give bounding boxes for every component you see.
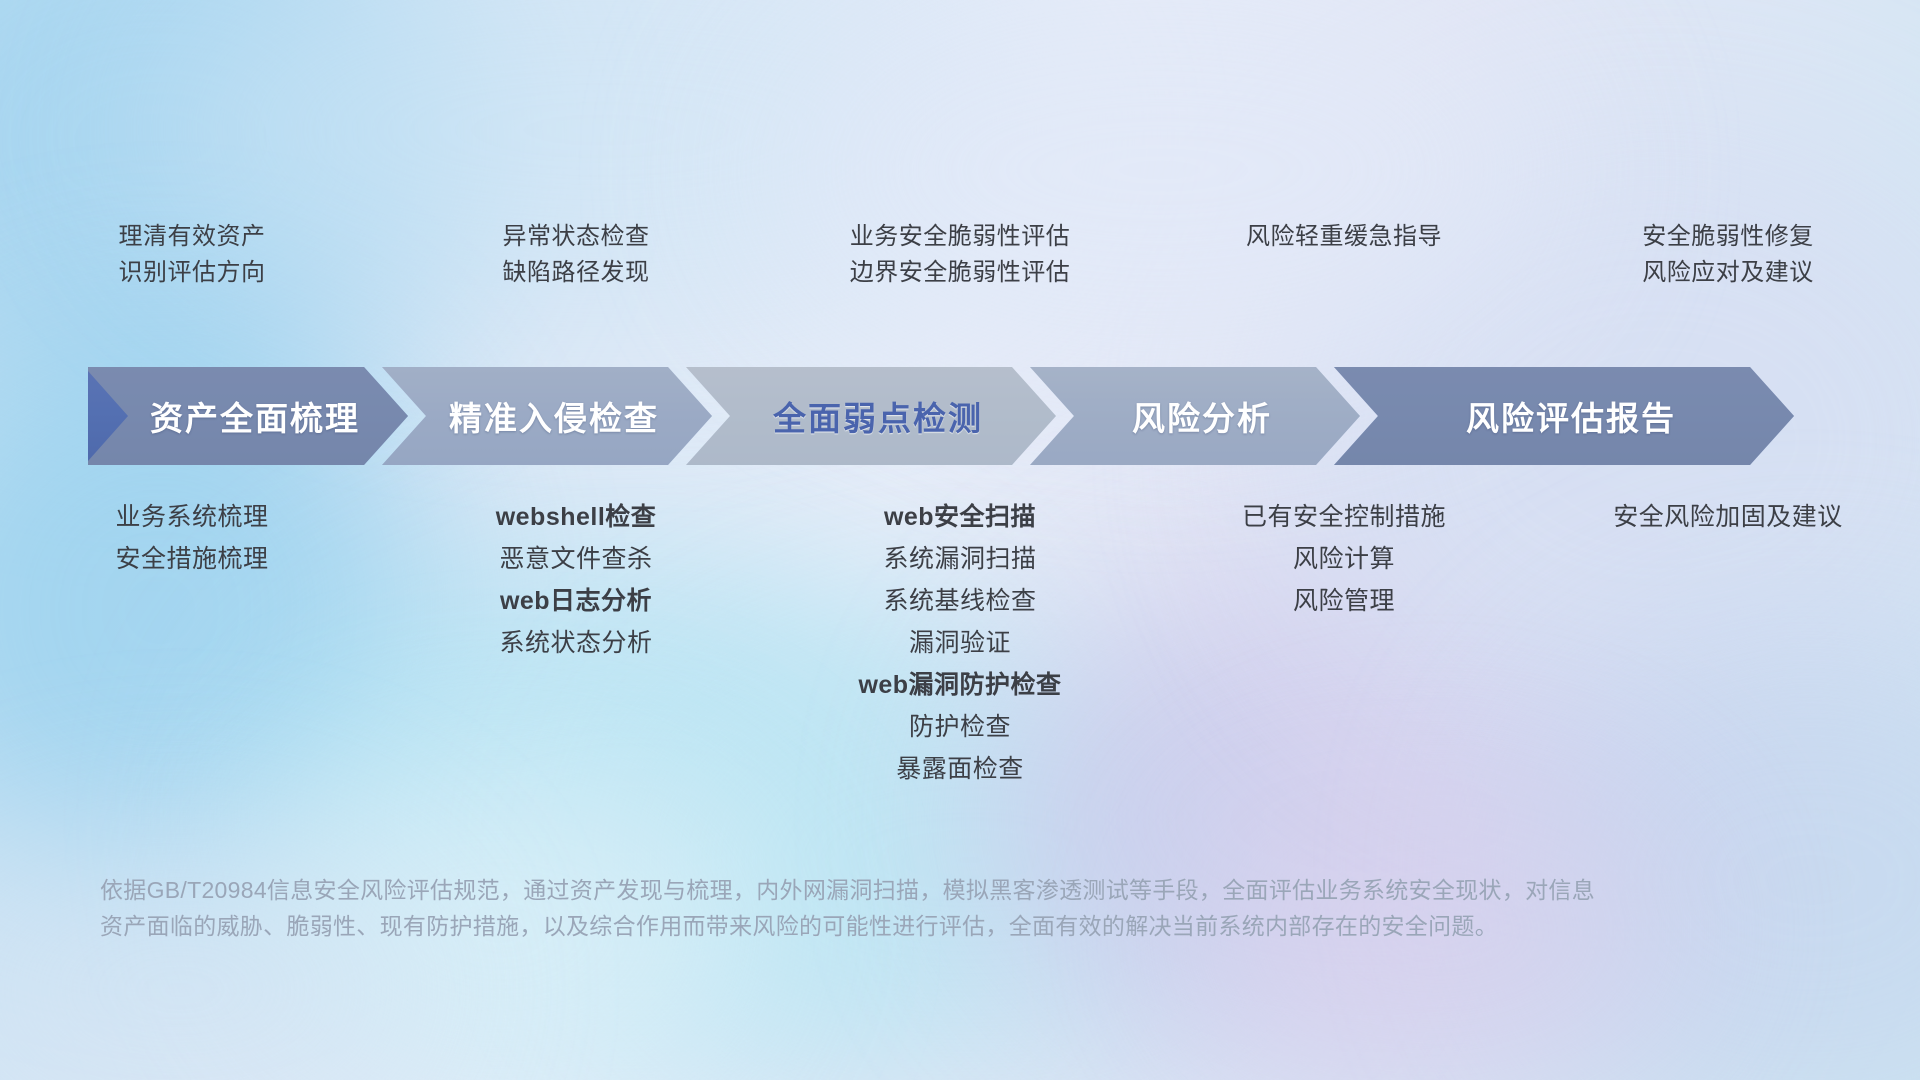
chevron-stage-asset-review[interactable]: 资产全面梳理: [88, 367, 408, 465]
top-notes-risk-report: 安全脆弱性修复 风险应对及建议: [1536, 225, 1920, 335]
top-notes-intrusion-check: 异常状态检查 缺陷路径发现: [384, 225, 768, 335]
slide-canvas: 理清有效资产 识别评估方向 异常状态检查 缺陷路径发现 业务安全脆弱性评估 边界…: [0, 0, 1920, 1080]
chevron-label: 精准入侵检查: [435, 392, 659, 440]
detail-column-risk-report: 安全风险加固及建议: [1536, 505, 1920, 530]
detail-column-asset-review: 业务系统梳理 安全措施梳理: [0, 505, 384, 572]
top-notes-asset-review: 理清有效资产 识别评估方向: [0, 225, 384, 335]
top-note: 异常状态检查: [503, 225, 650, 249]
detail-item: webshell检查: [496, 505, 657, 530]
chevron-label: 风险分析: [1118, 392, 1272, 440]
chevron-stage-risk-analysis[interactable]: 风险分析: [1030, 367, 1360, 465]
detail-item: 安全措施梳理: [115, 547, 268, 572]
detail-item: 漏洞验证: [909, 631, 1011, 656]
chevron-stage-weakness-detect[interactable]: 全面弱点检测: [686, 367, 1056, 465]
detail-item: 系统漏洞扫描: [883, 547, 1036, 572]
top-note: 安全脆弱性修复: [1642, 225, 1814, 249]
detail-item: web日志分析: [500, 589, 652, 614]
footer-line: 资产面临的威胁、脆弱性、现有防护措施，以及综合作用而带来风险的可能性进行评估，全…: [100, 908, 1740, 944]
detail-item: 风险计算: [1293, 547, 1395, 572]
top-notes-weakness-detect: 业务安全脆弱性评估 边界安全脆弱性评估: [768, 225, 1152, 335]
detail-item: 安全风险加固及建议: [1613, 505, 1843, 530]
top-notes-row: 理清有效资产 识别评估方向 异常状态检查 缺陷路径发现 业务安全脆弱性评估 边界…: [0, 225, 1920, 335]
footer-line: 依据GB/T20984信息安全风险评估规范，通过资产发现与梳理，内外网漏洞扫描，…: [100, 872, 1740, 908]
chevron-label: 全面弱点检测: [759, 392, 983, 440]
detail-item: 暴露面检查: [896, 757, 1024, 782]
chevron-label: 资产全面梳理: [136, 392, 360, 440]
detail-item: web安全扫描: [884, 505, 1036, 530]
detail-item: 恶意文件查杀: [499, 547, 652, 572]
top-note: 理清有效资产: [119, 225, 266, 249]
chevron-stage-risk-report[interactable]: 风险评估报告: [1334, 367, 1794, 465]
detail-item: web漏洞防护检查: [858, 673, 1061, 698]
top-note: 边界安全脆弱性评估: [850, 261, 1071, 285]
detail-item: 系统状态分析: [499, 631, 652, 656]
process-chevron-band: 资产全面梳理 精准入侵检查 全面弱点检测 风险分析 风险评估报告: [88, 367, 1848, 465]
detail-item: 系统基线检查: [883, 589, 1036, 614]
top-note: 风险轻重缓急指导: [1246, 225, 1442, 249]
top-notes-risk-analysis: 风险轻重缓急指导: [1152, 225, 1536, 335]
top-note: 风险应对及建议: [1642, 261, 1814, 285]
top-note: 业务安全脆弱性评估: [850, 225, 1071, 249]
detail-column-weakness-detect: web安全扫描 系统漏洞扫描 系统基线检查 漏洞验证 web漏洞防护检查 防护检…: [768, 505, 1152, 782]
stage-detail-columns: 业务系统梳理 安全措施梳理 webshell检查 恶意文件查杀 web日志分析 …: [0, 505, 1920, 782]
detail-item: 防护检查: [909, 715, 1011, 740]
footer-description: 依据GB/T20984信息安全风险评估规范，通过资产发现与梳理，内外网漏洞扫描，…: [100, 872, 1740, 944]
detail-column-intrusion-check: webshell检查 恶意文件查杀 web日志分析 系统状态分析: [384, 505, 768, 656]
chevron-label: 风险评估报告: [1452, 392, 1676, 440]
detail-item: 风险管理: [1293, 589, 1395, 614]
bg-blob: [0, 0, 480, 400]
detail-item: 业务系统梳理: [115, 505, 268, 530]
detail-item: 已有安全控制措施: [1242, 505, 1446, 530]
top-note: 识别评估方向: [119, 261, 266, 285]
chevron-stage-intrusion-check[interactable]: 精准入侵检查: [382, 367, 712, 465]
top-note: 缺陷路径发现: [503, 261, 650, 285]
detail-column-risk-analysis: 已有安全控制措施 风险计算 风险管理: [1152, 505, 1536, 614]
